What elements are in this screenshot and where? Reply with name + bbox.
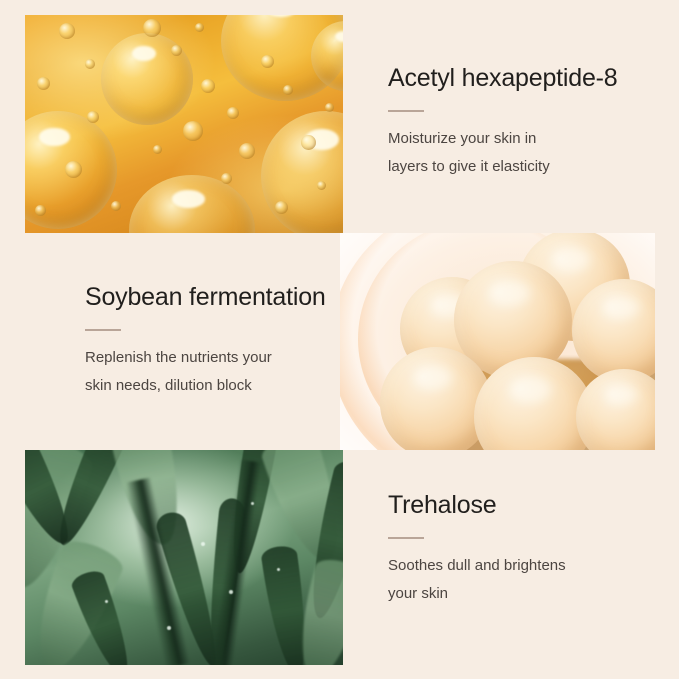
heading-divider — [388, 110, 424, 112]
ingredient-description: Soothes dull and brightens your skin — [388, 552, 650, 608]
ingredient-heading: Trehalose — [388, 493, 650, 518]
ingredient-block-trehalose: Trehalose Soothes dull and brightens you… — [388, 493, 650, 608]
ingredient-infographic: Acetyl hexapeptide-8 Moisturize your ski… — [0, 0, 679, 679]
ingredient-description: Moisturize your skin in layers to give i… — [388, 125, 650, 181]
golden-oil-bubbles-photo — [25, 15, 343, 233]
heading-divider — [388, 537, 424, 539]
heading-divider — [85, 329, 121, 331]
ingredient-heading: Acetyl hexapeptide-8 — [388, 66, 650, 91]
green-seaweed-photo — [25, 450, 343, 665]
ingredient-heading: Soybean fermentation — [85, 285, 353, 310]
peach-spheres-photo — [340, 233, 655, 450]
ingredient-block-acetyl: Acetyl hexapeptide-8 Moisturize your ski… — [388, 66, 650, 181]
ingredient-description: Replenish the nutrients your skin needs,… — [85, 344, 353, 400]
ingredient-block-soybean: Soybean fermentation Replenish the nutri… — [85, 285, 353, 400]
